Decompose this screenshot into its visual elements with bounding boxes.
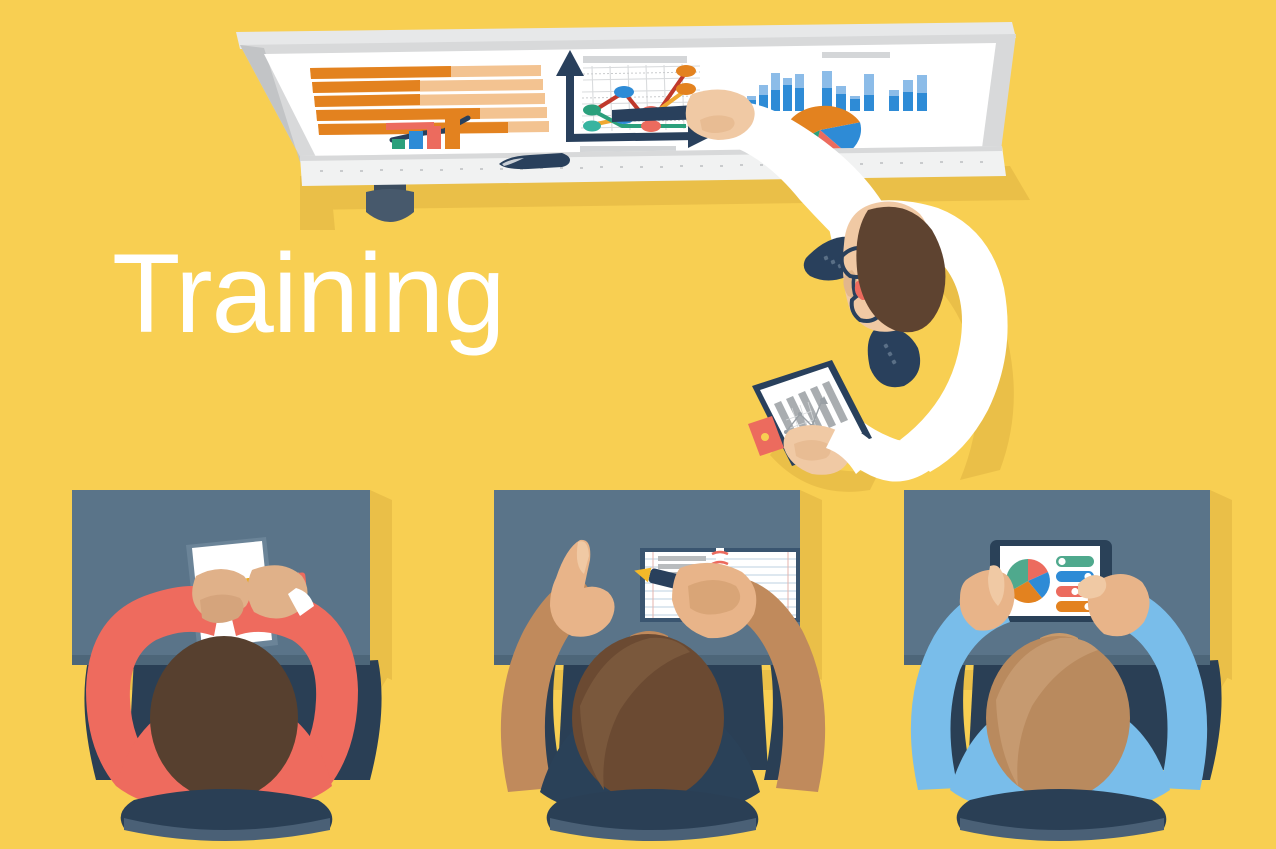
presenter-holding-thumb bbox=[794, 440, 831, 461]
page-title: Training bbox=[112, 238, 504, 350]
whiteboard[interactable] bbox=[236, 22, 1030, 230]
clipboard-clip-hole bbox=[761, 433, 769, 441]
marker-orange-2 bbox=[676, 83, 696, 95]
marker-teal-1 bbox=[583, 105, 601, 116]
mini-bar-orange bbox=[445, 119, 460, 149]
desk-shadow-left bbox=[370, 490, 392, 680]
desk-shadow-right bbox=[1210, 490, 1232, 680]
line-chart-y-axis bbox=[566, 70, 574, 141]
mini-bar-blue bbox=[409, 131, 423, 149]
legend-row-teal[interactable] bbox=[1056, 556, 1094, 567]
blue-bars-header bbox=[822, 52, 890, 58]
line-chart-header bbox=[583, 56, 687, 63]
marker-teal-2 bbox=[583, 121, 601, 132]
student-center-thumb-right bbox=[688, 580, 740, 615]
mini-bar-teal bbox=[392, 139, 405, 149]
illustration-canvas bbox=[0, 0, 1276, 849]
mini-chart-label bbox=[386, 122, 434, 130]
mini-bar-red bbox=[427, 126, 441, 149]
student-left-head bbox=[150, 636, 298, 800]
marker-orange-1 bbox=[676, 65, 696, 77]
student-right[interactable] bbox=[904, 490, 1232, 841]
marker-blue-1 bbox=[614, 86, 634, 98]
whiteboard-stand-foot bbox=[366, 189, 414, 222]
marker-red-2 bbox=[641, 120, 661, 132]
